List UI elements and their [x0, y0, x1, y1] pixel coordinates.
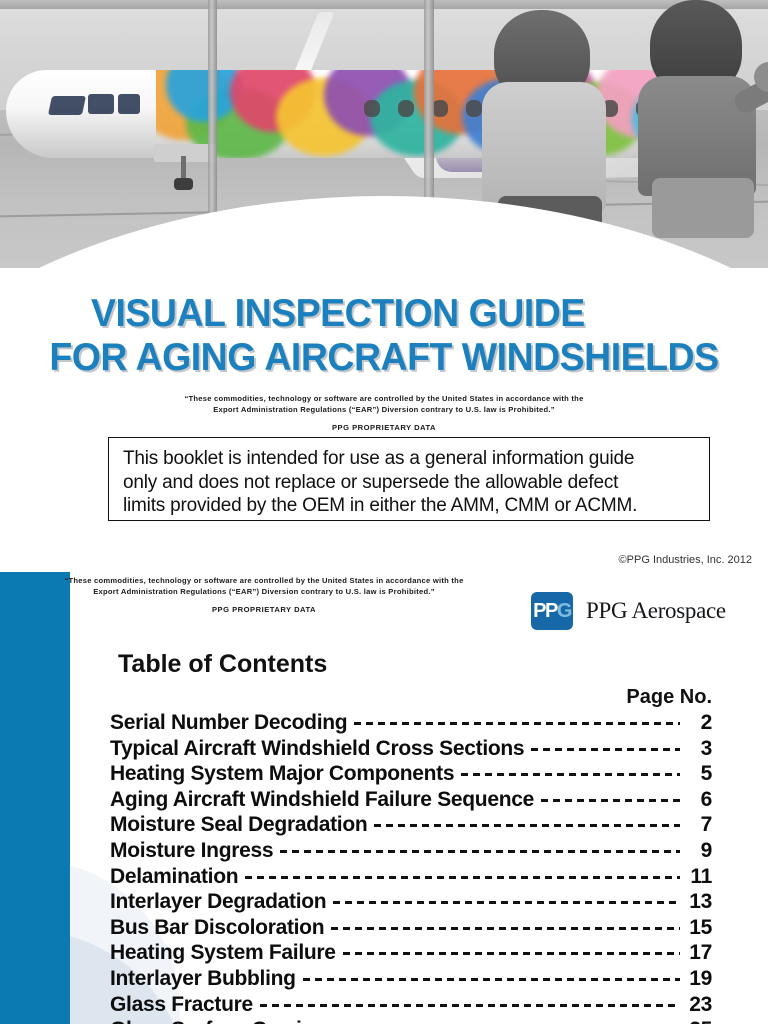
toc-entry-page: 6	[686, 787, 712, 813]
toc-leader-dots	[343, 952, 680, 955]
toc-heading: Table of Contents	[118, 650, 327, 679]
toc-entry-label: Bus Bar Discoloration	[110, 915, 324, 941]
toc-entry-label: Glass Fracture	[110, 992, 253, 1018]
child-figure	[630, 0, 762, 240]
toc-entry[interactable]: Delamination11	[110, 864, 712, 890]
toc-entry[interactable]: Glass Fracture23	[110, 992, 712, 1018]
document-page: VISUAL INSPECTION GUIDE FOR AGING AIRCRA…	[0, 0, 768, 1024]
ppg-wordmark: PPG Aerospace	[586, 598, 726, 624]
toc-entry-page: 25	[686, 1017, 712, 1024]
ppg-mark-p2: P	[545, 600, 557, 623]
page-title: VISUAL INSPECTION GUIDE FOR AGING AIRCRA…	[0, 292, 768, 380]
ppg-aerospace-logo: PPG PPG Aerospace	[531, 590, 761, 632]
toc-leader-dots	[260, 1004, 680, 1007]
toc-entry-label: Moisture Ingress	[110, 838, 273, 864]
toc-entry-page: 7	[686, 812, 712, 838]
window-mullion	[208, 0, 217, 236]
toc-leader-dots	[541, 799, 680, 802]
cockpit-window	[48, 96, 86, 115]
toc-entry-page: 3	[686, 736, 712, 762]
toc-leader-dots	[331, 927, 680, 930]
toc-entry[interactable]: Glass Surface Crazing25	[110, 1017, 712, 1024]
toc-entry-label: Typical Aircraft Windshield Cross Sectio…	[110, 736, 524, 762]
toc-entry-page: 9	[686, 838, 712, 864]
ppg-mark-p1: P	[533, 600, 545, 623]
toc-leader-dots	[303, 978, 680, 981]
toc-entry[interactable]: Bus Bar Discoloration15	[110, 915, 712, 941]
toc-leader-dots	[245, 876, 680, 879]
child-legs	[652, 178, 754, 238]
booklet-line-2: only and does not replace or supersede t…	[123, 471, 697, 495]
toc-entry-page: 11	[686, 864, 712, 890]
toc-entry-label: Heating System Failure	[110, 940, 336, 966]
toc-entry-label: Interlayer Bubbling	[110, 966, 296, 992]
left-accent-bar	[0, 572, 70, 1024]
booklet-line-1: This booklet is intended for use as a ge…	[123, 447, 697, 471]
cockpit-window	[118, 94, 140, 114]
toc-entry[interactable]: Heating System Major Components5	[110, 761, 712, 787]
toc-leader-dots	[333, 901, 680, 904]
toc-entry-label: Glass Surface Crazing	[110, 1017, 327, 1024]
toc-entry[interactable]: Serial Number Decoding2	[110, 710, 712, 736]
toc-entry[interactable]: Interlayer Bubbling19	[110, 966, 712, 992]
ear-line-2: Export Administration Regulations (“EAR”…	[0, 405, 768, 416]
toc-leader-dots	[374, 824, 680, 827]
toc-page-column-header: Page No.	[0, 686, 712, 709]
cockpit-window	[88, 94, 114, 114]
ear-line-1: “These commodities, technology or softwa…	[0, 394, 768, 405]
ppg-logo-icon: PPG	[531, 592, 573, 630]
toc-list: Serial Number Decoding2Typical Aircraft …	[110, 710, 712, 1024]
toc-entry[interactable]: Moisture Seal Degradation7	[110, 812, 712, 838]
title-line-2: FOR AGING AIRCRAFT WINDSHIELDS	[15, 336, 752, 380]
ear-notice-top: “These commodities, technology or softwa…	[0, 394, 768, 434]
toc-entry-label: Heating System Major Components	[110, 761, 454, 787]
ppg-mark-g: G	[557, 600, 571, 623]
ear-line-1: “These commodities, technology or softwa…	[0, 576, 648, 587]
landing-gear-wheel	[174, 178, 193, 190]
toc-entry-label: Moisture Seal Degradation	[110, 812, 367, 838]
toc-entry-page: 17	[686, 940, 712, 966]
toc-entry-label: Serial Number Decoding	[110, 710, 347, 736]
toc-entry-label: Aging Aircraft Windshield Failure Sequen…	[110, 787, 534, 813]
toc-leader-dots	[354, 722, 680, 725]
proprietary-label: PPG PROPRIETARY DATA	[0, 423, 768, 434]
toc-leader-dots	[280, 850, 680, 853]
booklet-notice-box: This booklet is intended for use as a ge…	[108, 437, 710, 521]
toc-entry-page: 2	[686, 710, 712, 736]
toc-entry-label: Interlayer Degradation	[110, 889, 326, 915]
toc-entry[interactable]: Interlayer Degradation13	[110, 889, 712, 915]
booklet-line-3: limits provided by the OEM in either the…	[123, 494, 697, 518]
toc-entry-page: 13	[686, 889, 712, 915]
toc-entry-page: 15	[686, 915, 712, 941]
toc-leader-dots	[461, 773, 680, 776]
child-torso	[482, 82, 606, 212]
hero-photo	[0, 0, 768, 268]
toc-entry-page: 23	[686, 992, 712, 1018]
toc-entry-label: Delamination	[110, 864, 238, 890]
toc-entry[interactable]: Aging Aircraft Windshield Failure Sequen…	[110, 787, 712, 813]
toc-entry[interactable]: Moisture Ingress9	[110, 838, 712, 864]
toc-leader-dots	[531, 748, 680, 751]
toc-entry[interactable]: Heating System Failure17	[110, 940, 712, 966]
toc-entry[interactable]: Typical Aircraft Windshield Cross Sectio…	[110, 736, 712, 762]
copyright-text: ©PPG Industries, Inc. 2012	[0, 554, 752, 566]
toc-entry-page: 5	[686, 761, 712, 787]
toc-entry-page: 19	[686, 966, 712, 992]
title-line-1: VISUAL INSPECTION GUIDE	[15, 292, 752, 336]
